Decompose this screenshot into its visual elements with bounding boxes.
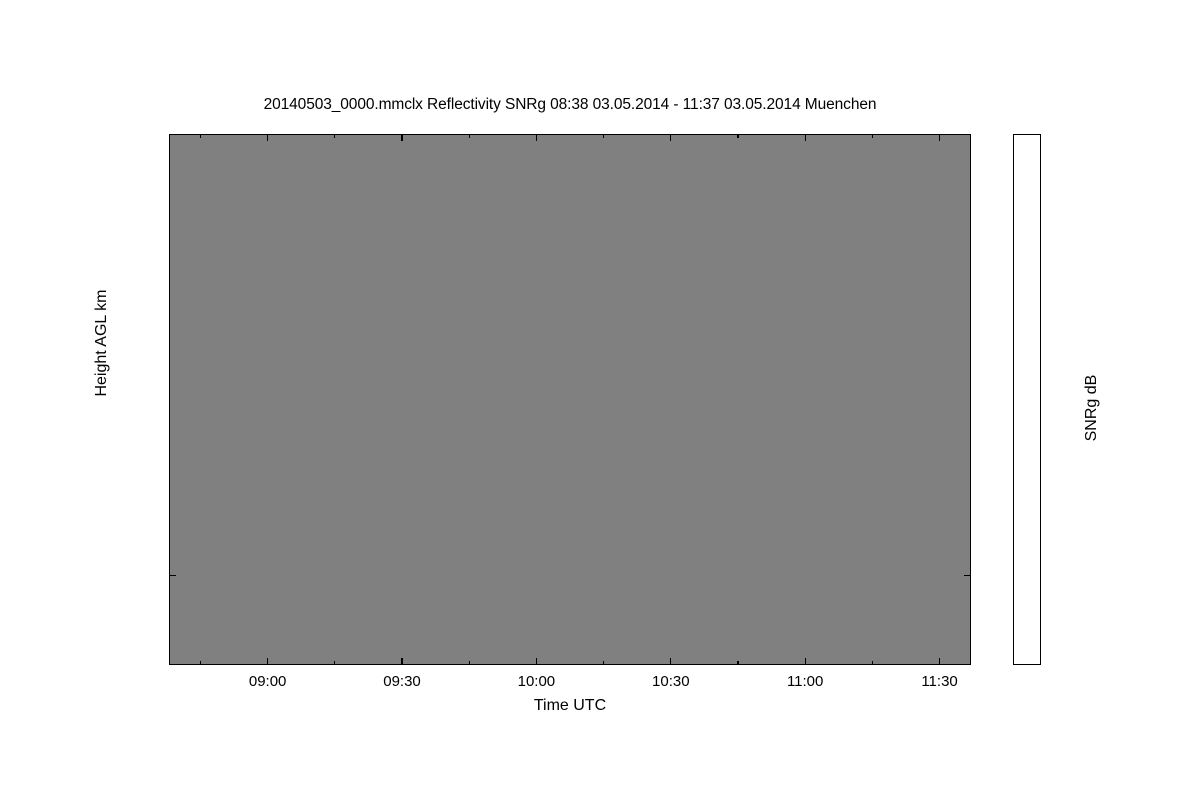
x-tick-top-minor — [469, 134, 470, 138]
y-tick-major — [169, 575, 176, 576]
y-tick-right-major — [964, 575, 971, 576]
x-tick-top-minor — [737, 134, 738, 138]
x-tick-minor — [872, 661, 873, 665]
x-tick-major — [267, 658, 268, 665]
x-tick-top-major — [670, 134, 671, 141]
x-tick-top-minor — [872, 134, 873, 138]
x-tick-label: 10:30 — [652, 673, 690, 690]
x-tick-major — [536, 658, 537, 665]
x-tick-major — [939, 658, 940, 665]
x-tick-top-major — [805, 134, 806, 141]
reflectivity-heatmap — [170, 135, 970, 664]
x-tick-minor — [334, 661, 335, 665]
x-tick-major — [401, 658, 402, 665]
y-axis-label: Height AGL km — [93, 233, 111, 453]
x-tick-top-major — [939, 134, 940, 141]
x-tick-minor — [737, 661, 738, 665]
colorbar-label: SNRg dB — [1083, 338, 1101, 478]
x-tick-minor — [603, 661, 604, 665]
x-tick-minor — [200, 661, 201, 665]
x-tick-label: 11:00 — [787, 673, 823, 690]
colorbar[interactable] — [1013, 134, 1041, 665]
x-tick-top-minor — [603, 134, 604, 138]
x-tick-minor — [469, 661, 470, 665]
x-tick-major — [670, 658, 671, 665]
x-tick-label: 11:30 — [921, 673, 957, 690]
x-tick-label: 10:00 — [518, 673, 556, 690]
x-tick-major — [805, 658, 806, 665]
x-tick-label: 09:30 — [383, 673, 421, 690]
x-tick-top-major — [401, 134, 402, 141]
x-tick-top-minor — [334, 134, 335, 138]
x-tick-label: 09:00 — [249, 673, 287, 690]
x-tick-top-minor — [200, 134, 201, 138]
heatmap-plot-area[interactable] — [169, 134, 971, 665]
x-axis-label: Time UTC — [169, 697, 971, 715]
x-tick-top-major — [267, 134, 268, 141]
page-title: 20140503_0000.mmclx Reflectivity SNRg 08… — [169, 96, 971, 114]
radar-figure: 20140503_0000.mmclx Reflectivity SNRg 08… — [0, 0, 1200, 800]
colorbar-gradient — [1014, 135, 1040, 664]
x-tick-top-major — [536, 134, 537, 141]
